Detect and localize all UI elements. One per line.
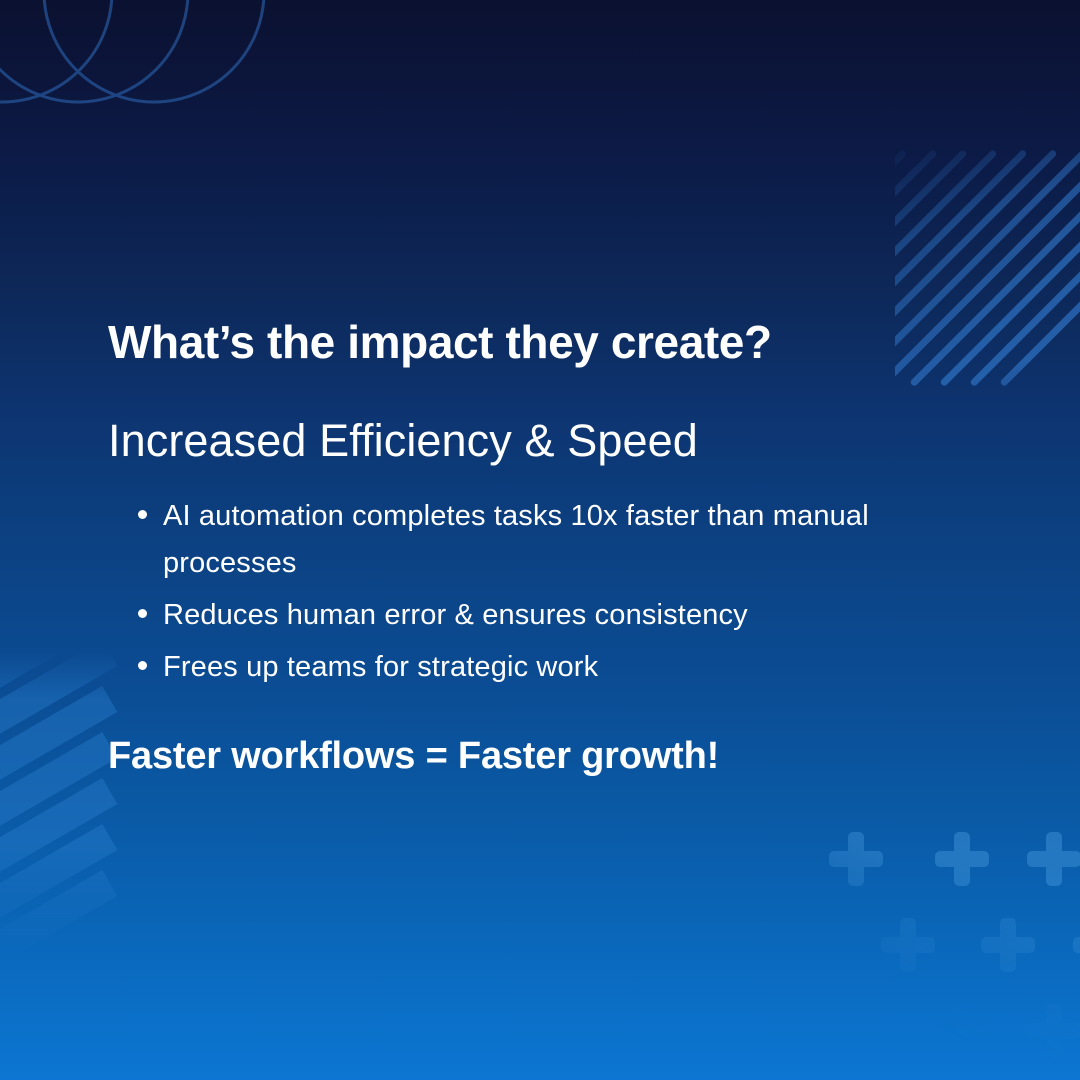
bullet-dot-icon	[138, 661, 147, 670]
plus-icon	[829, 1004, 883, 1058]
plus-icon	[1027, 1004, 1080, 1058]
list-item-label: Reduces human error & ensures consistenc…	[163, 599, 748, 631]
list-item-label: AI automation completes tasks 10x faster…	[163, 500, 869, 579]
slide-subtitle: Increased Efficiency & Speed	[108, 417, 948, 466]
plus-pattern-decoration	[815, 790, 1080, 1080]
plus-icon	[935, 832, 989, 886]
bullet-dot-icon	[138, 609, 147, 618]
plus-icon	[981, 918, 1035, 972]
slide-content: What’s the impact they create? Increased…	[108, 318, 948, 778]
plus-icon	[1073, 918, 1080, 972]
plus-icon	[1027, 832, 1080, 886]
plus-icon	[829, 832, 883, 886]
plus-icon	[881, 918, 935, 972]
list-item: Frees up teams for strategic work	[138, 644, 928, 691]
slide-kicker: Faster workflows = Faster growth!	[108, 735, 948, 778]
list-item: Reduces human error & ensures consistenc…	[138, 592, 928, 639]
list-item-label: Frees up teams for strategic work	[163, 651, 598, 683]
plus-icon	[935, 1004, 989, 1058]
list-item: AI automation completes tasks 10x faster…	[138, 493, 928, 587]
slide-title: What’s the impact they create?	[108, 318, 948, 367]
bullet-dot-icon	[138, 510, 147, 519]
bullet-list: AI automation completes tasks 10x faster…	[108, 493, 948, 691]
slide-canvas: What’s the impact they create? Increased…	[0, 0, 1080, 1080]
overlapping-circles-decoration	[0, 0, 352, 222]
